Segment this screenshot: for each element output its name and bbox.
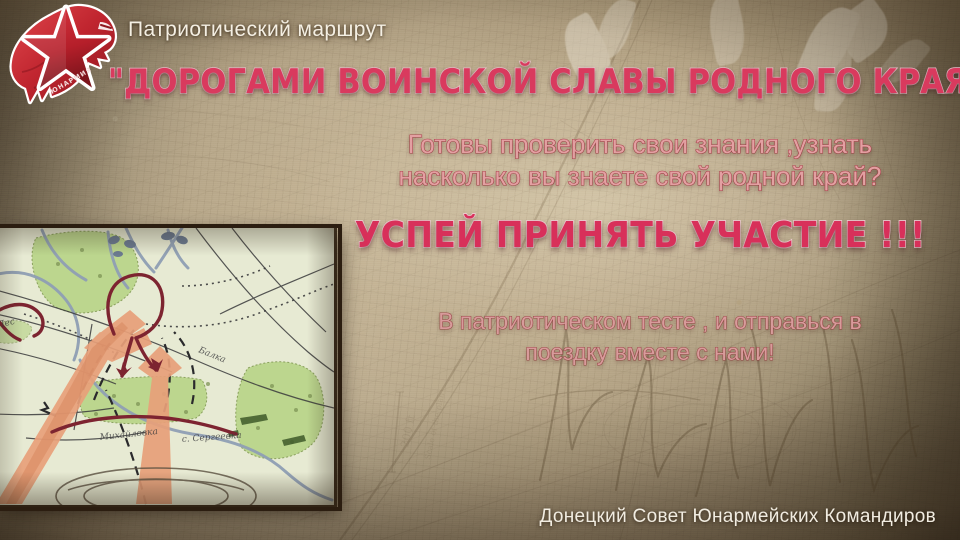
kicker-label: Патриотический маршрут xyxy=(128,18,387,42)
call-to-action-headline: УСПЕЙ ПРИНЯТЬ УЧАСТИЕ !!! xyxy=(355,214,925,258)
subtitle-block: Готовы проверить свои знания ,узнать нас… xyxy=(330,128,950,192)
organization-footer: Донецкий Совет Юнармейских Командиров xyxy=(539,506,936,528)
body-copy-line-2: поездку вместе с нами! xyxy=(350,337,950,368)
subtitle-line-1: Готовы проверить свои знания ,узнать xyxy=(330,128,950,160)
body-copy-line-1: В патриотическом тесте , и отправься в xyxy=(350,306,950,337)
body-copy-block: В патриотическом тесте , и отправься в п… xyxy=(350,306,950,368)
historic-military-map-photo: Михайловка с. Сергеевка Балка Лес xyxy=(0,228,334,505)
page-title: "ДОРОГАМИ ВОИНСКОЙ СЛАВЫ РОДНОГО КРАЯ" xyxy=(108,62,828,102)
patriotic-route-poster: 200 ft Scale of the plan xyxy=(0,0,960,540)
subtitle-line-2: насколько вы знаете свой родной край? xyxy=(330,160,950,192)
